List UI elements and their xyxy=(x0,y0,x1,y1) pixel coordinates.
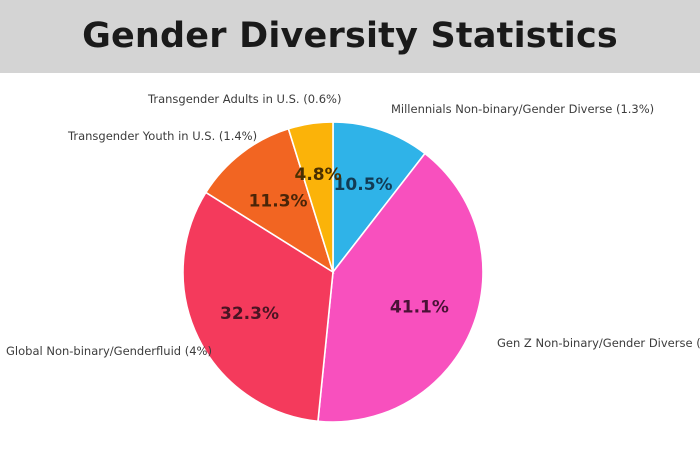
pie-value-label-transgender-youth-in-u-s: 11.3% xyxy=(249,192,308,212)
pie-svg: 10.5%41.1%32.3%11.3%4.8% xyxy=(0,0,700,466)
slice-label-transgender-youth: Transgender Youth in U.S. (1.4%) xyxy=(68,130,257,144)
slice-label-transgender-adults: Transgender Adults in U.S. (0.6%) xyxy=(148,93,341,107)
pie-value-label-transgender-adults-in-u-s: 4.8% xyxy=(295,165,342,185)
pie-chart-figure: Gender Diversity Statistics 10.5%41.1%32… xyxy=(0,0,700,466)
pie-value-label-global-non-binary-genderfluid: 32.3% xyxy=(220,304,279,324)
slice-label-global-nonbinary: Global Non-binary/Genderfluid (4%) xyxy=(6,345,212,359)
pie-value-label-gen-z-non-binary-gender-diverse: 41.1% xyxy=(390,298,449,318)
pie-value-label-millennials-non-binary-gender-diverse: 10.5% xyxy=(334,175,393,195)
slice-label-millennials: Millennials Non-binary/Gender Diverse (1… xyxy=(391,103,654,117)
slice-label-gen-z: Gen Z Non-binary/Gender Diverse (5.1%) xyxy=(497,337,700,351)
